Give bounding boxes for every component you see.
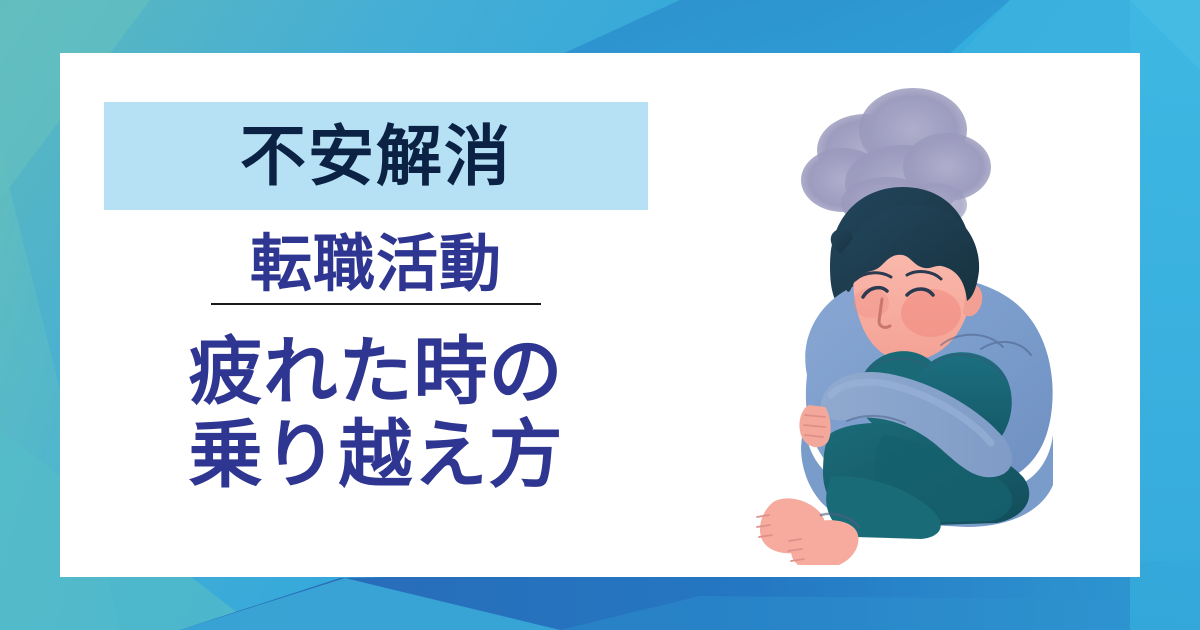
blush-cheek-2 (853, 288, 889, 318)
main-headline-line-1: 疲れた時の (189, 331, 564, 414)
headline-block: 不安解消 転職活動 疲れた時の 乗り越え方 (104, 102, 664, 497)
eyebrow-band: 不安解消 (104, 102, 648, 210)
eyebrow-text: 不安解消 (240, 123, 512, 189)
thumbnail-canvas: 不安解消 転職活動 疲れた時の 乗り越え方 (0, 0, 1200, 630)
blush-cheek (901, 289, 961, 337)
main-headline-line-2: 乗り越え方 (189, 414, 564, 497)
sad-person-illustration (735, 75, 1085, 565)
subject-underline (211, 303, 541, 305)
subject-text: 転職活動 (250, 232, 502, 297)
subject-line: 転職活動 (104, 232, 648, 305)
main-headline: 疲れた時の 乗り越え方 (104, 331, 648, 497)
